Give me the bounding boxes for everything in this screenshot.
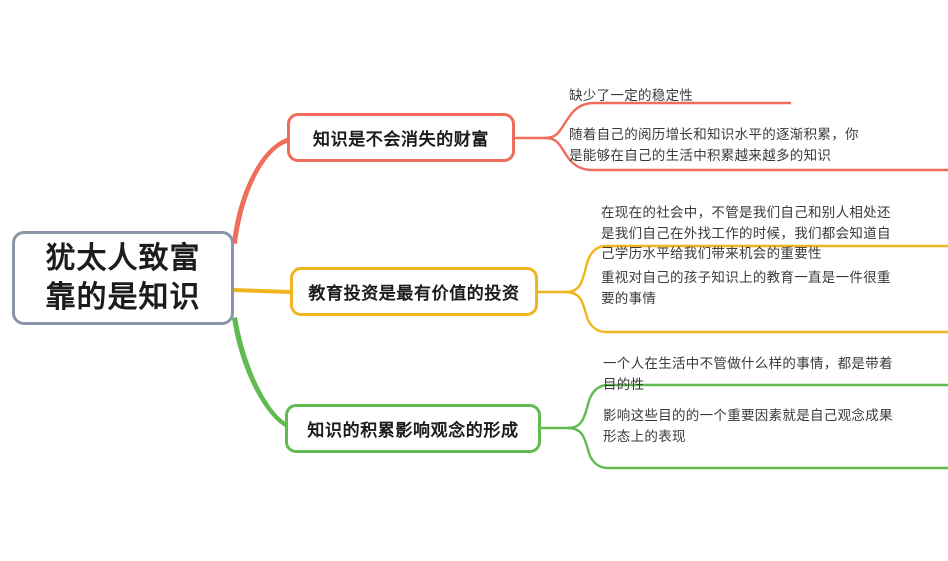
connector-root-to-branch-0 [232,138,287,244]
connector-root-to-branch-1 [234,288,290,294]
leaf-node-0-1-text: 随着自己的阅历增长和知识水平的逐渐积累，你 是能够在自己的生活中积累越来越多的知… [560,125,948,166]
leaf-node-1-1[interactable]: 重视对自己的孩子知识上的教育一直是一件很重 要的事情 [592,268,948,309]
mindmap-canvas: 犹太人致富 靠的是知识 知识是不会消失的财富 教育投资是最有价值的投资 知识的积… [0,0,948,561]
leaf-node-2-0-text: 一个人在生活中不管做什么样的事情，都是带着 目的性 [594,354,948,395]
leaf-node-0-0-text: 缺少了一定的稳定性 [560,86,948,107]
connector-root-to-branch-2 [232,317,287,428]
leaf-node-0-1[interactable]: 随着自己的阅历增长和知识水平的逐渐积累，你 是能够在自己的生活中积累越来越多的知… [560,125,948,166]
branch-node-0[interactable]: 知识是不会消失的财富 [287,113,515,162]
leaf-node-0-0[interactable]: 缺少了一定的稳定性 [560,86,948,107]
root-node-label: 犹太人致富 靠的是知识 [46,239,201,317]
branch-node-2-label: 知识的积累影响观念的形成 [307,416,518,441]
leaf-node-1-0[interactable]: 在现在的社会中，不管是我们自己和别人相处还 是我们自己在外找工作的时候，我们都会… [592,203,948,265]
branch-node-2[interactable]: 知识的积累影响观念的形成 [285,404,541,453]
leaf-node-2-1-text: 影响这些目的的一个重要因素就是自己观念成果 形态上的表现 [594,406,948,447]
leaf-node-1-1-text: 重视对自己的孩子知识上的教育一直是一件很重 要的事情 [592,268,948,309]
leaf-node-1-0-text: 在现在的社会中，不管是我们自己和别人相处还 是我们自己在外找工作的时候，我们都会… [592,203,948,265]
branch-node-1[interactable]: 教育投资是最有价值的投资 [290,267,538,316]
root-node[interactable]: 犹太人致富 靠的是知识 [12,231,234,325]
leaf-node-2-1[interactable]: 影响这些目的的一个重要因素就是自己观念成果 形态上的表现 [594,406,948,447]
branch-node-0-label: 知识是不会消失的财富 [313,125,489,150]
leaf-node-2-0[interactable]: 一个人在生活中不管做什么样的事情，都是带着 目的性 [594,354,948,395]
branch-node-1-label: 教育投资是最有价值的投资 [308,279,519,304]
